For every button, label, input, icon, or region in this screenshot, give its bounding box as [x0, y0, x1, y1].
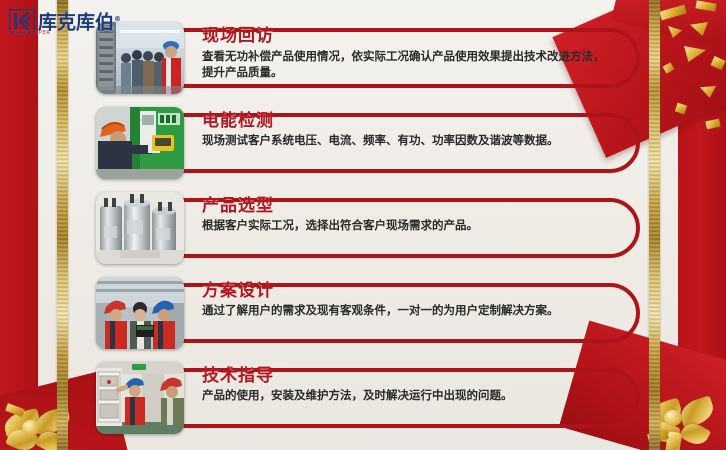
card-text: 方案设计 通过了解用户的需求及现有客观条件，一对一的为用户定制解决方案。	[202, 281, 614, 318]
card-text: 产品选型 根据客户实际工况，选择出符合客户现场需求的产品。	[202, 196, 614, 233]
capacitor-products-photo	[96, 192, 184, 264]
card-text: 技术指导 产品的使用，安装及维护方法，及时解决运行中出现的问题。	[202, 366, 614, 403]
left-gold-stripe	[57, 0, 68, 450]
card-text: 电能检测 现场测试客户系统电压、电流、频率、有功、功率因数及谐波等数据。	[202, 111, 614, 148]
service-card[interactable]: 现场回访 查看无功补偿产品使用情况，依实际工况确认产品使用效果提出技术改进方法，…	[96, 22, 640, 94]
power-testing-photo	[96, 107, 184, 179]
service-card[interactable]: 产品选型 根据客户实际工况，选择出符合客户现场需求的产品。	[96, 192, 640, 264]
service-card[interactable]: 电能检测 现场测试客户系统电压、电流、频率、有功、功率因数及谐波等数据。	[96, 107, 640, 179]
poster-stage: 库克库伯® KUKER KUPER	[0, 0, 726, 450]
technical-guidance-photo	[96, 362, 184, 434]
service-card[interactable]: 方案设计 通过了解用户的需求及现有客观条件，一对一的为用户定制解决方案。	[96, 277, 640, 349]
right-gold-stripe	[649, 0, 660, 450]
logo-wordmark: 库克库伯®	[38, 10, 121, 32]
card-description: 产品的使用，安装及维护方法，及时解决运行中出现的问题。	[202, 388, 614, 403]
registered-mark-icon: ®	[114, 15, 121, 23]
card-text: 现场回访 查看无功补偿产品使用情况，依实际工况确认产品使用效果提出技术改进方法，…	[202, 26, 614, 80]
card-title: 技术指导	[202, 366, 614, 386]
card-title: 产品选型	[202, 196, 614, 216]
card-description: 通过了解用户的需求及现有客观条件，一对一的为用户定制解决方案。	[202, 303, 614, 318]
service-card[interactable]: 技术指导 产品的使用，安装及维护方法，及时解决运行中出现的问题。	[96, 362, 640, 434]
logo-subtext: KUKER KUPER	[9, 30, 50, 36]
card-description: 根据客户实际工况，选择出符合客户现场需求的产品。	[202, 218, 614, 233]
solution-design-photo	[96, 277, 184, 349]
card-title: 方案设计	[202, 281, 614, 301]
left-red-band	[0, 0, 38, 450]
card-description: 查看无功补偿产品使用情况，依实际工况确认产品使用效果提出技术改进方法，提升产品质…	[202, 48, 614, 80]
card-title: 现场回访	[202, 26, 614, 46]
service-card-list: 现场回访 查看无功补偿产品使用情况，依实际工况确认产品使用效果提出技术改进方法，…	[96, 22, 640, 442]
card-description: 现场测试客户系统电压、电流、频率、有功、功率因数及谐波等数据。	[202, 133, 614, 148]
card-title: 电能检测	[202, 111, 614, 131]
